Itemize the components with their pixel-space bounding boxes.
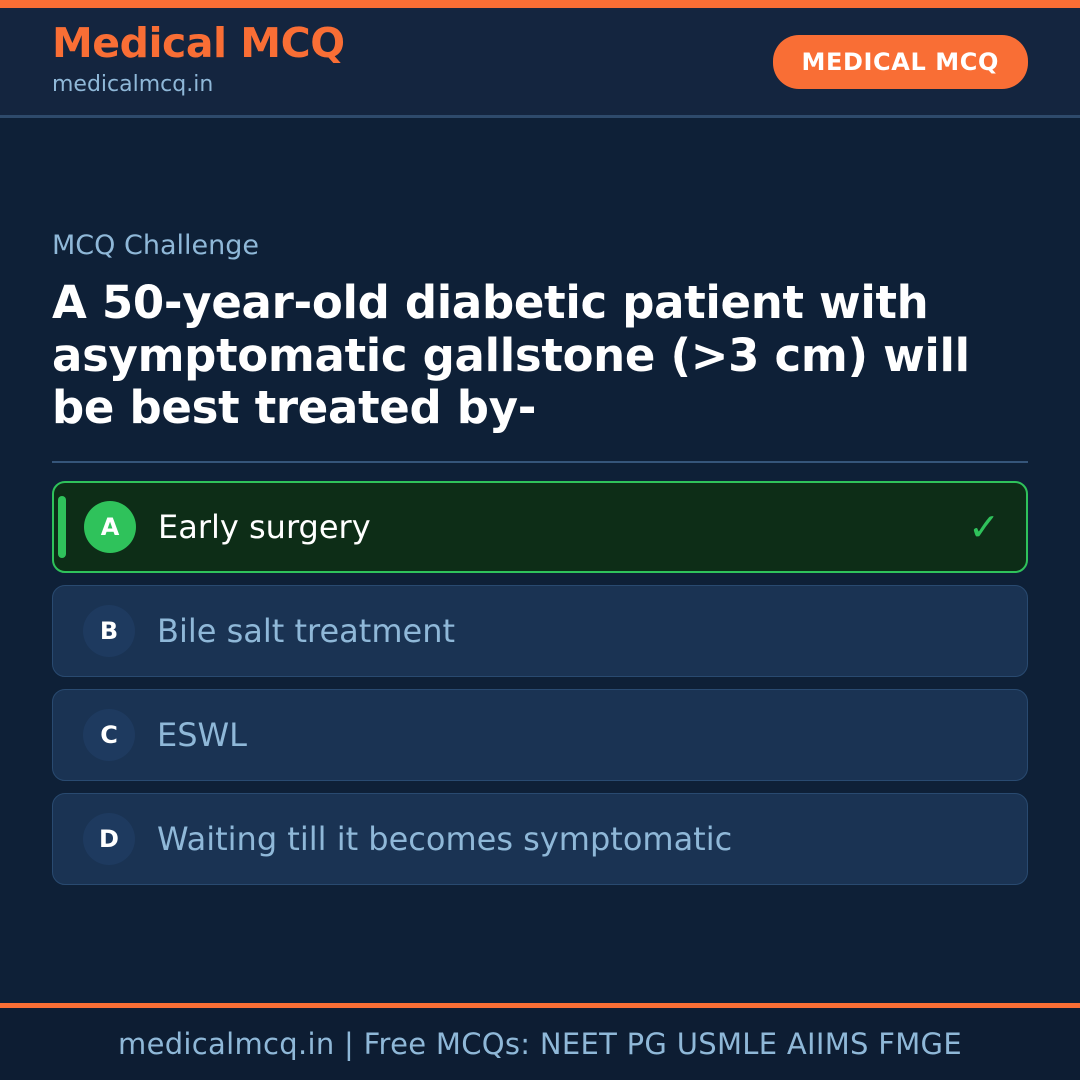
option-a[interactable]: A Early surgery ✓	[52, 481, 1028, 573]
correct-accent-bar	[58, 496, 66, 558]
option-a-text: Early surgery	[158, 508, 371, 546]
top-accent-bar	[0, 0, 1080, 8]
page-header: Medical MCQ medicalmcq.in MEDICAL MCQ	[0, 8, 1080, 118]
option-d[interactable]: D Waiting till it becomes symptomatic	[52, 793, 1028, 885]
option-c-badge: C	[83, 709, 135, 761]
option-d-text: Waiting till it becomes symptomatic	[157, 820, 732, 858]
header-badge: MEDICAL MCQ	[773, 35, 1028, 89]
footer-text: medicalmcq.in | Free MCQs: NEET PG USMLE…	[118, 1027, 962, 1061]
question-divider	[52, 461, 1028, 463]
option-b[interactable]: B Bile salt treatment	[52, 585, 1028, 677]
option-a-badge: A	[84, 501, 136, 553]
eyebrow-label: MCQ Challenge	[52, 231, 1028, 261]
options-list: A Early surgery ✓ B Bile salt treatment …	[52, 481, 1028, 885]
page-footer: medicalmcq.in | Free MCQs: NEET PG USMLE…	[0, 1003, 1080, 1080]
brand-title: Medical MCQ	[52, 22, 345, 65]
check-icon: ✓	[968, 508, 1000, 546]
option-b-text: Bile salt treatment	[157, 612, 455, 650]
option-c[interactable]: C ESWL	[52, 689, 1028, 781]
brand-subtitle: medicalmcq.in	[52, 68, 345, 101]
question-text: A 50-year-old diabetic patient with asym…	[52, 277, 1028, 435]
option-d-badge: D	[83, 813, 135, 865]
brand-block: Medical MCQ medicalmcq.in	[52, 22, 345, 100]
option-c-text: ESWL	[157, 716, 247, 754]
option-b-badge: B	[83, 605, 135, 657]
main-content: MCQ Challenge A 50-year-old diabetic pat…	[0, 121, 1080, 995]
